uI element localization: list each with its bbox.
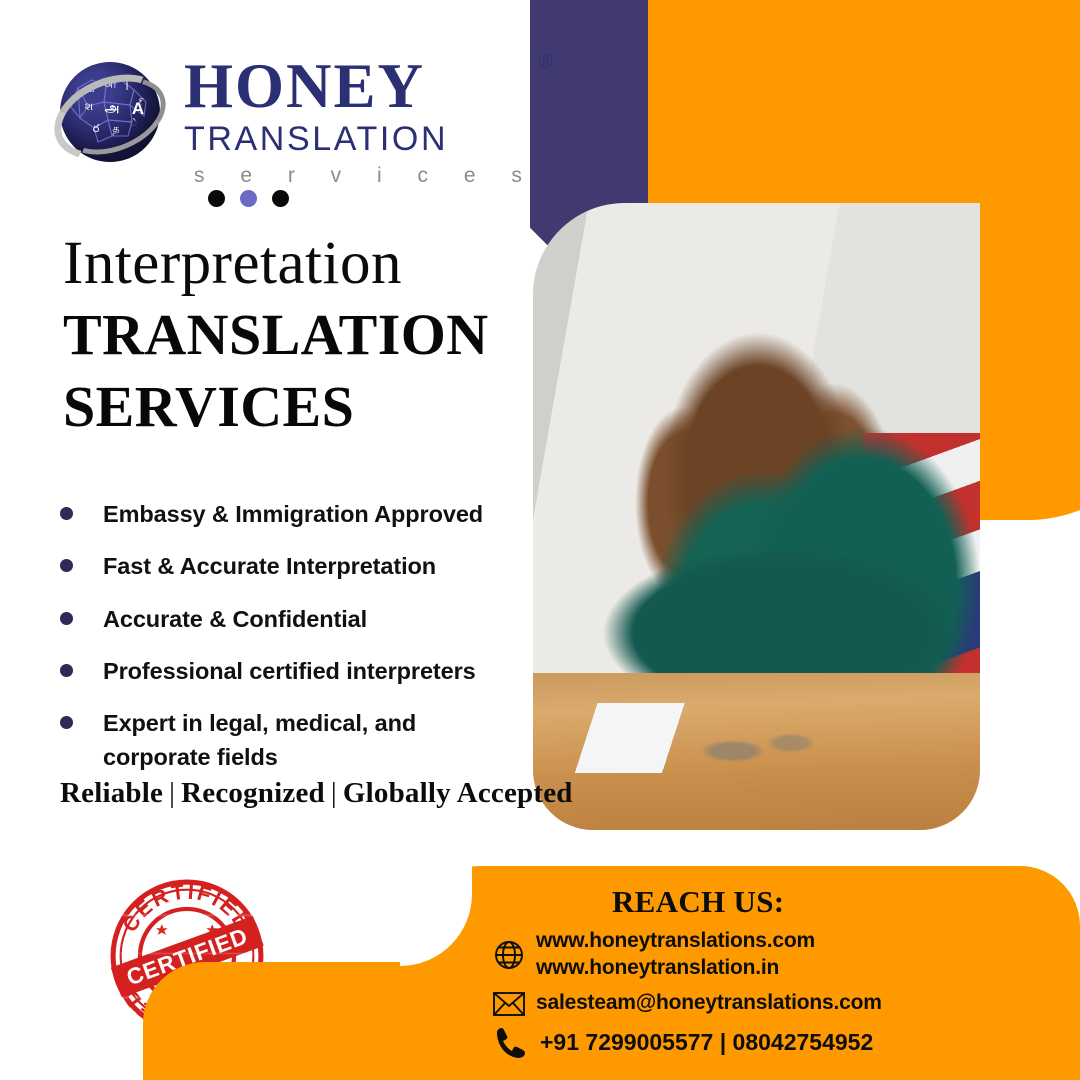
bullet-dot-icon xyxy=(60,612,73,625)
bullet-dot-icon xyxy=(60,559,73,572)
contact-websites[interactable]: www.honeytranslations.com www.honeytrans… xyxy=(536,928,815,982)
page-title: Interpretation TRANSLATION SERVICES xyxy=(63,232,523,439)
bullet-dot-icon xyxy=(60,507,73,520)
brand-name-tertiary: s e r v i c e s xyxy=(184,160,537,192)
brand-logo: க আ ا શ அ ్ ర த ે A HONEY ® xyxy=(52,48,537,192)
brand-wordmark: HONEY ® TRANSLATION s e r v i c e s xyxy=(184,48,537,192)
website-1[interactable]: www.honeytranslations.com xyxy=(536,929,815,952)
brand-name-secondary: TRANSLATION xyxy=(184,118,537,161)
contact-phones[interactable]: +91 7299005577 | 08042754952 xyxy=(540,1028,873,1057)
tagline: Reliable|Recognized|Globally Accepted xyxy=(60,777,573,810)
tagline-separator-1: | xyxy=(163,777,181,809)
dot-purple-center xyxy=(240,190,257,207)
logo-dots-divider xyxy=(208,190,289,207)
contact-row-phone[interactable]: +91 7299005577 | 08042754952 xyxy=(492,1026,1052,1060)
bullet-dot-icon xyxy=(60,716,73,729)
poster-canvas: க আ ا શ அ ్ ర த ે A HONEY ® xyxy=(0,0,1080,1080)
headline-script-line: Interpretation xyxy=(63,232,523,296)
list-item: Professional certified interpreters xyxy=(55,655,535,688)
contact-row-website[interactable]: www.honeytranslations.com www.honeytrans… xyxy=(492,928,1052,982)
list-item: Accurate & Confidential xyxy=(55,603,535,636)
bullet-dot-icon xyxy=(60,664,73,677)
headline-bold-line-1: TRANSLATION xyxy=(63,302,523,368)
list-item-label: Embassy & Immigration Approved xyxy=(103,498,483,531)
hero-photo-image xyxy=(533,203,980,830)
envelope-icon xyxy=(492,990,536,1018)
globe-icon xyxy=(492,938,536,972)
feature-list: Embassy & Immigration Approved Fast & Ac… xyxy=(55,498,535,793)
tagline-separator-2: | xyxy=(325,777,343,809)
globe-languages-icon: க আ ا શ அ ్ ర த ે A xyxy=(52,48,172,173)
hero-photo xyxy=(533,203,980,830)
contact-details: www.honeytranslations.com www.honeytrans… xyxy=(492,928,1052,1068)
list-item-label: Accurate & Confidential xyxy=(103,603,367,636)
list-item-label: Fast & Accurate Interpretation xyxy=(103,550,436,583)
headline-bold-line-2: SERVICES xyxy=(63,374,523,440)
contact-email[interactable]: salesteam@honeytranslations.com xyxy=(536,990,882,1017)
contact-row-email[interactable]: salesteam@honeytranslations.com xyxy=(492,990,1052,1018)
phone-icon xyxy=(496,1026,540,1060)
dot-black-left xyxy=(208,190,225,207)
list-item: Embassy & Immigration Approved xyxy=(55,498,535,531)
tagline-part-3: Globally Accepted xyxy=(343,777,573,809)
tagline-part-1: Reliable xyxy=(60,777,163,809)
list-item-label: Expert in legal, medical, and corporate … xyxy=(103,707,443,774)
tagline-part-2: Recognized xyxy=(181,777,325,809)
list-item-label: Professional certified interpreters xyxy=(103,655,476,688)
contact-heading: REACH US: xyxy=(612,884,784,920)
list-item: Fast & Accurate Interpretation xyxy=(55,550,535,583)
dot-black-right xyxy=(272,190,289,207)
registered-trademark-symbol: ® xyxy=(539,52,553,74)
list-item: Expert in legal, medical, and corporate … xyxy=(55,707,535,774)
website-2[interactable]: www.honeytranslation.in xyxy=(536,956,779,979)
brand-name-primary: HONEY xyxy=(184,56,537,118)
